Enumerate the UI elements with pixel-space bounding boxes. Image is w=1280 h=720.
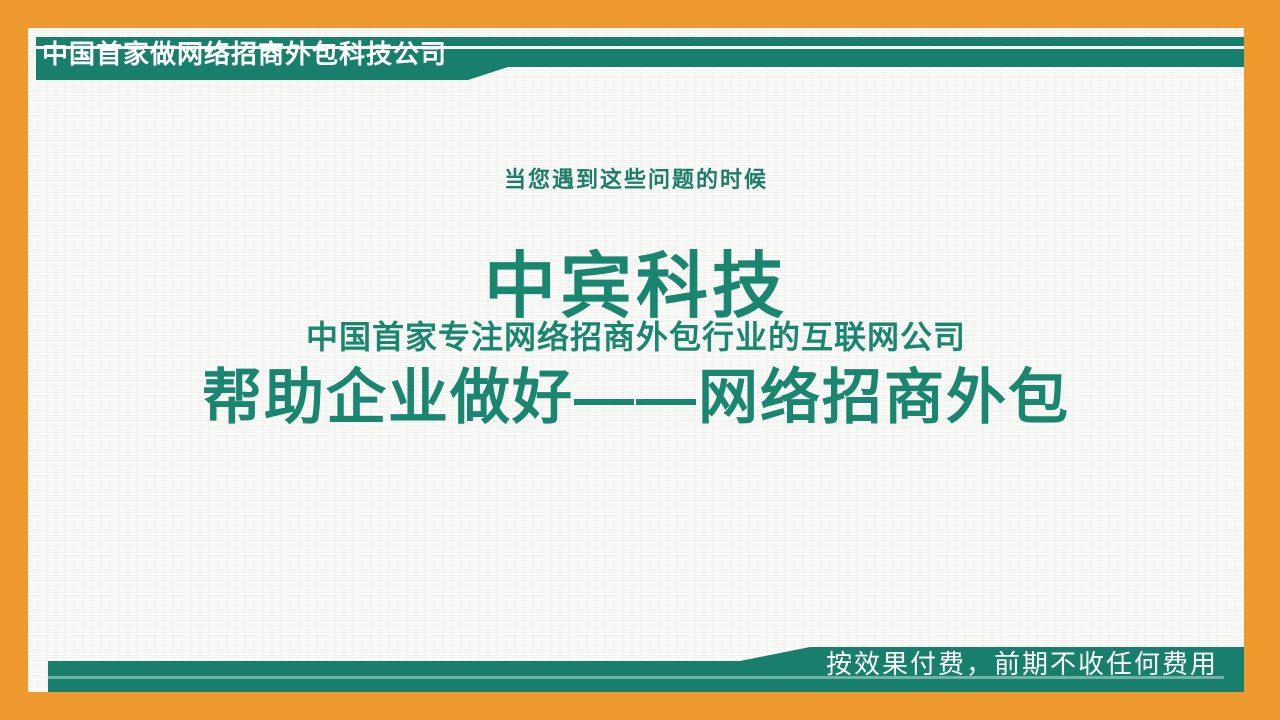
- slide-paper-background: 中国首家做网络招商外包科技公司 当您遇到这些问题的时候 中宾科技 中国首家专注网…: [28, 28, 1244, 692]
- tagline-text: 中国首家专注网络招商外包行业的互联网公司: [28, 318, 1244, 356]
- footer-text: 按效果付费，前期不收任何费用: [826, 648, 1218, 680]
- main-headline: 帮助企业做好——网络招商外包: [28, 362, 1244, 434]
- eyebrow-text: 当您遇到这些问题的时候: [28, 167, 1244, 193]
- brand-name: 中宾科技: [28, 246, 1244, 328]
- slide-content: 当您遇到这些问题的时候 中宾科技 中国首家专注网络招商外包行业的互联网公司 帮助…: [28, 28, 1244, 692]
- slide-canvas: 中国首家做网络招商外包科技公司 当您遇到这些问题的时候 中宾科技 中国首家专注网…: [0, 0, 1280, 720]
